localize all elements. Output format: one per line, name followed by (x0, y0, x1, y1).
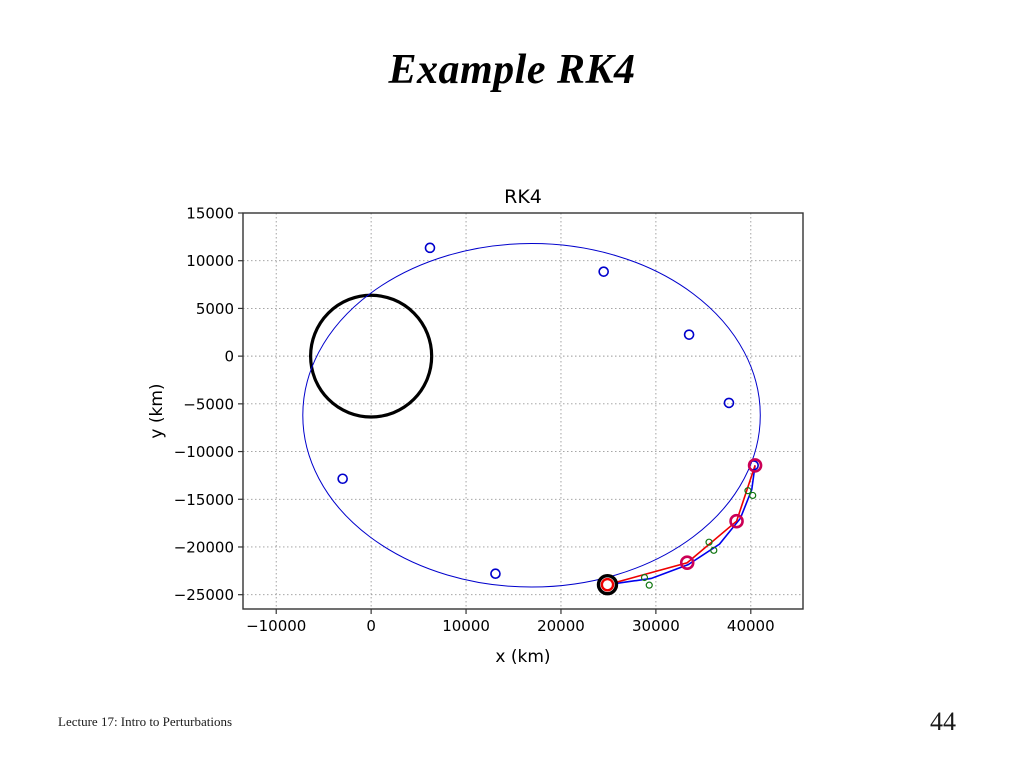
x-tick-label: 40000 (727, 617, 775, 635)
slide-canvas: Example RK4 RK4 (0, 0, 1024, 768)
start-point-layer (598, 576, 616, 594)
y-tick-label: −15000 (174, 491, 234, 509)
y-tick-label: 5000 (196, 300, 234, 318)
y-tick-label: 15000 (186, 205, 234, 223)
y-tick-label: 0 (224, 348, 234, 366)
slide-title: Example RK4 (0, 46, 1024, 94)
x-tick-label: 0 (366, 617, 376, 635)
x-tick-labels: −10000010000200003000040000 (246, 617, 775, 635)
y-tick-label: −20000 (174, 538, 234, 556)
y-tick-label: 10000 (186, 252, 234, 270)
x-tick-label: 10000 (442, 617, 490, 635)
y-axis-label: y (km) (147, 383, 167, 438)
y-tick-label: −25000 (174, 586, 234, 604)
y-tick-labels: 150001000050000−5000−10000−15000−20000−2… (174, 205, 234, 605)
x-tick-label: 20000 (537, 617, 585, 635)
plot-background (243, 213, 803, 609)
x-tick-label: −10000 (246, 617, 306, 635)
y-tick-label: −10000 (174, 443, 234, 461)
footer-page-number: 44 (930, 707, 956, 737)
y-tick-label: −5000 (183, 395, 234, 413)
chart-title: RK4 (504, 186, 542, 208)
footer-lecture-label: Lecture 17: Intro to Perturbations (58, 714, 232, 730)
rk4-orbit-figure: RK4 −10000010000200003000040000 15000100… (130, 170, 830, 680)
x-tick-label: 30000 (632, 617, 680, 635)
plot-svg: RK4 −10000010000200003000040000 15000100… (130, 170, 830, 680)
x-axis-label: x (km) (495, 647, 550, 667)
